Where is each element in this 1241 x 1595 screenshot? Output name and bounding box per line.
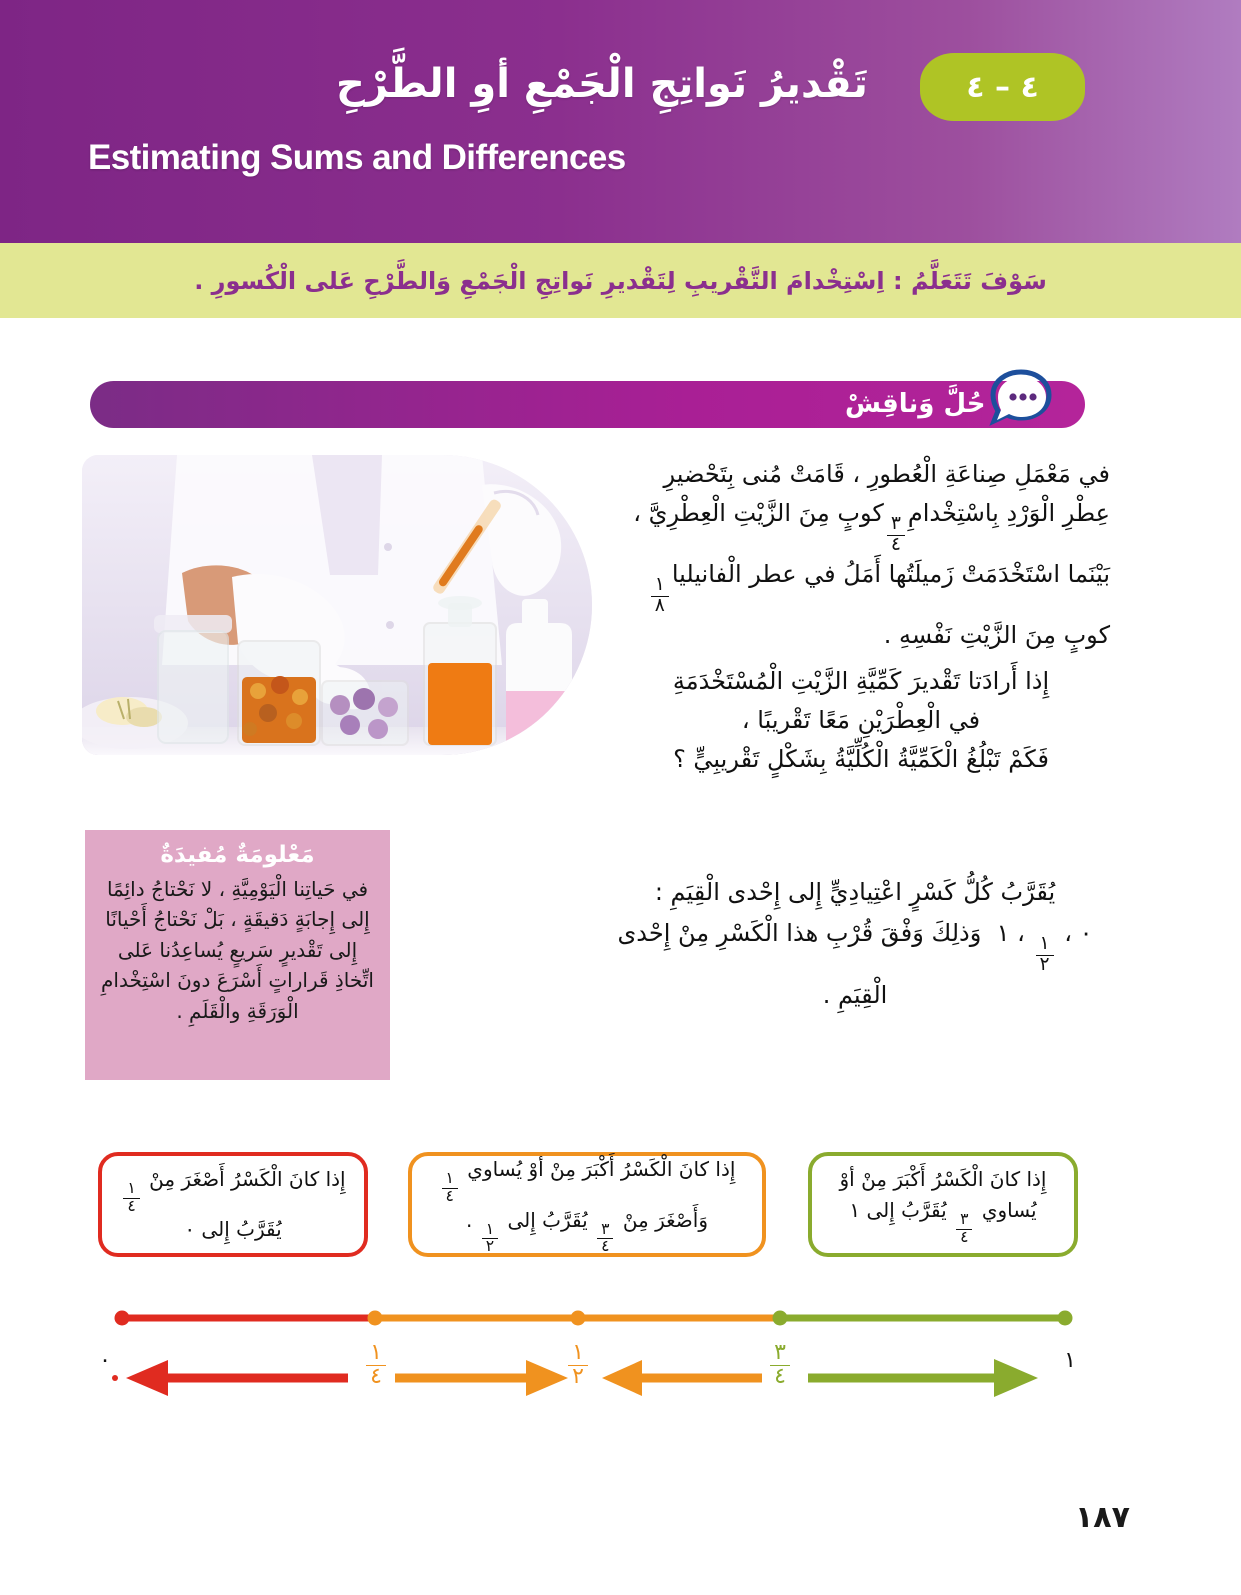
fraction-denominator: ٢ [1036,955,1054,975]
fraction-numerator: ٣ [956,1212,972,1228]
separator-comma: ، [1064,919,1072,947]
perfume-laboratory-photo [82,455,592,755]
fraction-three-quarters: ٣٤ [887,515,905,554]
rounding-rule-line1: يُقَرَّبُ كُلُّ كَسْرٍ اعْتِيادِيٍّ إِلى… [600,872,1110,913]
rule-card-orange-text-after: . [466,1208,472,1232]
solve-and-discuss-label: حُلَّ وَناقِشْ [845,389,985,419]
rule-card-orange-text-mid2: يُقَرَّبُ إِلى [507,1208,587,1232]
rounding-rule-line2: ٠ ، ١٢ ، ١ وَذلِكَ وَفْقَ قُرْبِ هذا الْ… [600,913,1110,1016]
problem-paragraph-2: إِذا أَرادَتا تَقْديرَ كَمِّيَّةِ الزَّي… [612,662,1110,779]
fraction-one-half: ١٢ [1036,935,1054,974]
useful-info-title: مَعْلومَةٌ مُفيدَةٌ [99,842,376,868]
fraction-denominator: ٤ [887,535,905,555]
number-line-diagram: ٠ ١ ٤ ١ ٢ ٣ ٤ ١ [90,1300,1100,1410]
fraction-denominator: ٤ [123,1198,139,1215]
fraction-denominator: ٨ [651,596,669,616]
rule-card-round-to-half: إِذا كانَ الْكَسْرُ أَكْبَرَ مِنْ أوْ يُ… [408,1152,766,1257]
arrow-round-up-to-half [395,1360,568,1396]
numberline-label-three-quarters: ٣ ٤ [760,1334,800,1388]
fraction-denominator: ٤ [597,1238,613,1255]
separator-comma-2: ، [1017,919,1025,947]
objective-band: سَوْفَ تَتَعَلَّمُ : اِسْتِخْدامَ التَّق… [0,243,1241,318]
fraction-numerator: ١ [123,1181,139,1197]
number-line-bar [115,1311,1073,1326]
arrow-round-down-to-half [602,1360,762,1396]
lesson-header-band: ٤ – ٤ تَقْديرُ نَواتِجِ الْجَمْعِ أوِ ال… [0,0,1241,243]
numberline-label-one-quarter: ١ ٤ [356,1334,396,1388]
rule-card-round-to-zero: إِذا كانَ الْكَسْرُ أَصْغَرَ مِنْ ١٤ يُق… [98,1152,368,1257]
fraction-denominator: ٤ [442,1188,458,1205]
fraction-numerator: ٣ [887,515,905,534]
fraction-numerator: ٣ [770,1342,790,1364]
fraction-numerator: ١ [482,1222,498,1238]
problem-question-line3: فَكَمْ تَبْلُغُ الْكَمِّيَّةُ الْكُلِّيَ… [612,740,1110,779]
problem-paragraph-1: في مَعْمَلِ صِناعَةِ الْعُطورِ ، قَامَتْ… [612,455,1110,654]
fraction-denominator: ٤ [366,1365,386,1388]
speech-bubble-icon [985,368,1055,426]
fraction-numerator: ١ [366,1342,386,1364]
useful-info-box: مَعْلومَةٌ مُفيدَةٌ في حَياتِنا الْيَوْم… [85,830,390,1080]
fraction-numerator: ١ [651,576,669,595]
fraction-denominator: ٢ [482,1238,498,1255]
fraction-one-quarter: ١٤ [442,1171,458,1204]
useful-info-body: في حَياتِنا الْيَوْمِيَّةِ ، لا نَحْتاجُ… [99,874,376,1026]
rule-card-red-text-before: إِذا كانَ الْكَسْرُ أَصْغَرَ مِنْ [149,1167,345,1191]
problem-question-line2: في الْعِطْرَيْنِ مَعًا تَقْريبًا ، [612,701,1110,740]
rounding-rule-text: يُقَرَّبُ كُلُّ كَسْرٍ اعْتِيادِيٍّ إِلى… [600,872,1110,1015]
fraction-numerator: ١ [568,1342,588,1364]
fraction-three-quarters: ٣٤ [956,1212,972,1245]
lesson-title-english: Estimating Sums and Differences [88,138,626,178]
rounding-rule-tail: وَذلِكَ وَفْقَ قُرْبِ هذا الْكَسْرِ مِنْ… [618,919,982,1009]
fraction-denominator: ٢ [568,1365,588,1388]
fraction-denominator: ٤ [956,1229,972,1246]
problem-question-line1: إِذا أَرادَتا تَقْديرَ كَمِّيَّةِ الزَّي… [612,662,1110,701]
arrow-round-up-to-one [808,1359,1038,1397]
fraction-one-quarter: ١٤ [123,1181,139,1214]
value-one: ١ [997,919,1010,947]
fraction-numerator: ١ [1036,935,1054,954]
fraction-one-eighth: ١٨ [651,576,669,615]
page-number: ١٨٧ [1075,1500,1130,1535]
rule-card-red-text-after: يُقَرَّبُ إِلى ٠ [184,1217,281,1241]
problem-text-part3: كوبٍ مِنَ الزَّيْتِ نَفْسِهِ . [884,621,1110,649]
numberline-label-zero: ٠ [90,1348,120,1373]
rule-card-orange-text-before: إِذا كانَ الْكَسْرُ أَكْبَرَ مِنْ أوْ يُ… [467,1157,735,1181]
lesson-title-arabic: تَقْديرُ نَواتِجِ الْجَمْعِ أوِ الطَّرْح… [336,58,1086,110]
numberline-label-one-half: ١ ٢ [558,1334,598,1388]
fraction-denominator: ٤ [770,1365,790,1388]
fraction-numerator: ٣ [597,1222,613,1238]
numberline-label-one: ١ [1050,1348,1090,1373]
value-zero: ٠ [1080,919,1093,947]
rule-card-orange-text-mid: وَأَصْغَرَ مِنْ [623,1208,708,1232]
rule-card-green-text-after: يُقَرَّبُ إِلى ١ [849,1198,946,1222]
objective-text: سَوْفَ تَتَعَلَّمُ : اِسْتِخْدامَ التَّق… [194,267,1047,295]
fraction-numerator: ١ [442,1171,458,1187]
rule-card-round-to-one: إِذا كانَ الْكَسْرُ أَكْبَرَ مِنْ أوْ يُ… [808,1152,1078,1257]
fraction-one-half: ١٢ [482,1222,498,1255]
fraction-three-quarters: ٣٤ [597,1222,613,1255]
arrow-round-down-to-zero [112,1360,348,1396]
